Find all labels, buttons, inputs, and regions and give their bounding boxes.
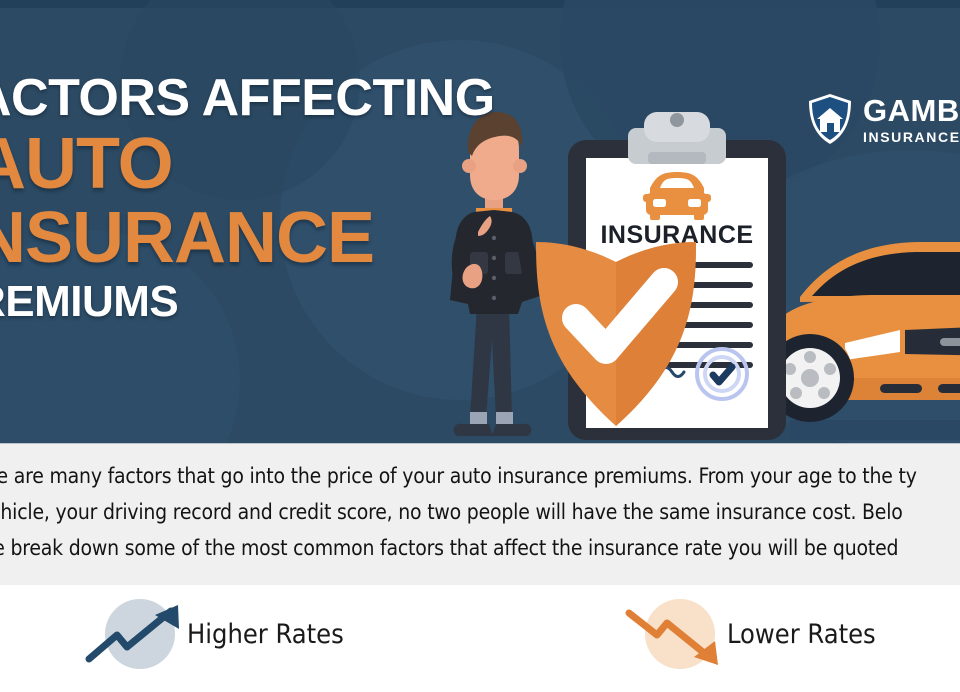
- lower-rates-label: Lower Rates: [727, 619, 876, 650]
- brand-logo[interactable]: GAMBA INSURANCE G: [806, 92, 960, 146]
- hero-title-line-1: ACTORS AFFECTING: [0, 72, 534, 124]
- hero-title-line-4: REMIUMS: [0, 280, 534, 324]
- intro-section: ere are many factors that go into the pr…: [0, 443, 960, 585]
- brand-name: GAMBA: [863, 95, 960, 126]
- trend-up-arrow-icon: [83, 595, 198, 673]
- rates-legend: Higher Rates Lower Rates: [0, 585, 960, 692]
- hero-title-line-3: NSURANCE: [0, 202, 534, 274]
- higher-rates-circle: [105, 599, 175, 669]
- higher-rates-label: Higher Rates: [187, 619, 344, 650]
- legend-item-lower-rates[interactable]: Lower Rates: [645, 599, 876, 669]
- orange-car-icon: [766, 242, 960, 440]
- legend-item-higher-rates[interactable]: Higher Rates: [105, 599, 344, 669]
- intro-line-3: we break down some of the most common fa…: [0, 530, 960, 566]
- brand-subtitle: INSURANCE G: [863, 130, 960, 144]
- hero-title-line-2: AUTO: [0, 128, 534, 200]
- intro-line-2: vehicle, your driving record and credit …: [0, 494, 960, 530]
- lower-rates-circle: [645, 599, 715, 669]
- approved-check-stamp-icon: [697, 349, 747, 399]
- shield-house-icon: [806, 92, 854, 146]
- intro-paragraph: ere are many factors that go into the pr…: [0, 458, 960, 566]
- intro-line-1: ere are many factors that go into the pr…: [0, 458, 960, 494]
- hero-title: ACTORS AFFECTING AUTO NSURANCE REMIUMS: [0, 72, 534, 324]
- trend-down-arrow-icon: [623, 595, 738, 673]
- brand-logo-text: GAMBA INSURANCE G: [863, 95, 960, 144]
- hero-banner: INSURANCE: [0, 0, 960, 443]
